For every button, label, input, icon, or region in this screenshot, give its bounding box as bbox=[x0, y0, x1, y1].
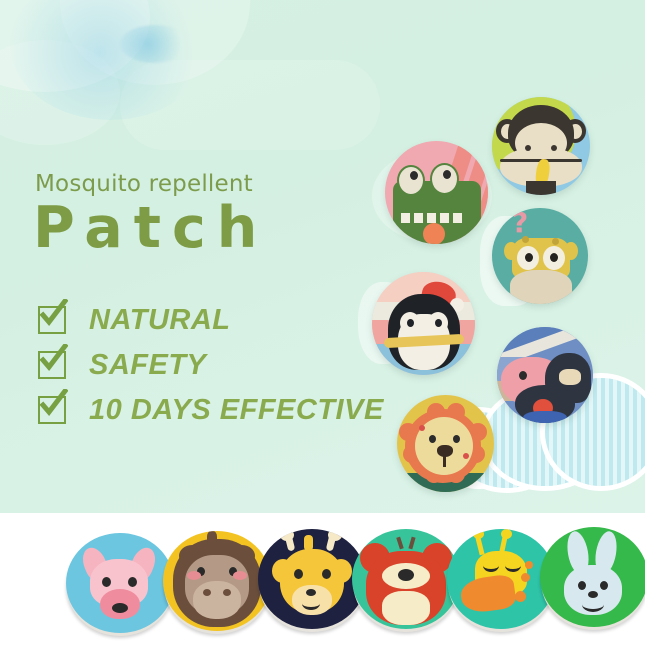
patch-illustration-elephant bbox=[497, 327, 593, 423]
feature-item-natural: NATURAL bbox=[38, 300, 384, 340]
background-sparkle bbox=[120, 25, 190, 63]
product-photo-rabbit bbox=[540, 527, 645, 627]
patch-illustration-monkey bbox=[492, 97, 590, 195]
checkbox-checked-icon bbox=[38, 351, 66, 379]
poster-kicker: Mosquito repellent bbox=[35, 171, 253, 197]
feature-item-duration: 10 DAYS EFFECTIVE bbox=[38, 390, 384, 430]
patch-illustration-crocodile bbox=[385, 141, 488, 244]
product-photo-hippo bbox=[163, 531, 271, 631]
feature-item-safety: SAFETY bbox=[38, 345, 384, 385]
product-photo-fox bbox=[66, 533, 174, 633]
patch-illustration-lion bbox=[397, 395, 494, 492]
checkbox-checked-icon bbox=[38, 396, 66, 424]
poster-headline: Patch bbox=[33, 200, 268, 257]
product-photo-giraffe-teal bbox=[447, 529, 555, 629]
product-photo-strip bbox=[0, 513, 645, 645]
patch-illustration-penguin bbox=[372, 272, 475, 375]
feature-label: SAFETY bbox=[89, 349, 206, 382]
checkbox-checked-icon bbox=[38, 306, 66, 334]
poster-background-panel: Mosquito repellent Patch NATURAL SAFETY bbox=[0, 0, 645, 513]
feature-label: 10 DAYS EFFECTIVE bbox=[89, 394, 384, 427]
feature-list: NATURAL SAFETY 10 DAYS EFFECTIVE bbox=[38, 300, 384, 435]
feature-label: NATURAL bbox=[89, 304, 231, 337]
patch-illustration-giraffe: ? bbox=[492, 208, 588, 304]
product-photo-giraffe-navy bbox=[258, 529, 366, 629]
product-poster: Mosquito repellent Patch NATURAL SAFETY bbox=[0, 0, 645, 645]
product-photo-bear bbox=[352, 529, 460, 629]
